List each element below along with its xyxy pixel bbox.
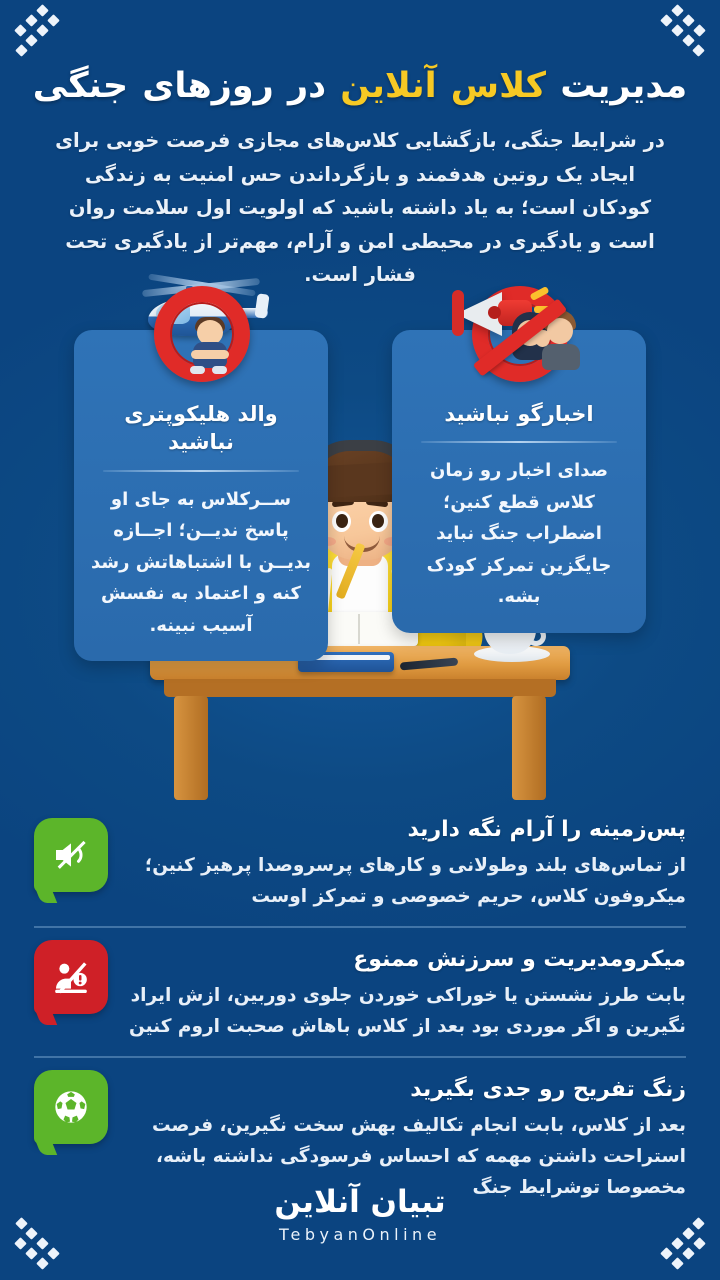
tip-body: بابت طرز نشستن یا خوراکی خوردن جلوی دورب… [126,980,686,1042]
desk-leg-left [174,696,208,800]
tip-title: پس‌زمینه را آرام نگه دارید [126,814,686,846]
man-shirt [542,344,580,370]
card-title: والد هلیکوپتری نباشید [90,400,312,457]
no-megaphone-whisper-icon [444,268,594,400]
card-title: اخبارگو نباشید [408,400,630,428]
tip-text: میکرومدیریت و سرزنش ممنوع بابت طرز نشستن… [126,944,686,1042]
megaphone-rim [452,290,464,336]
title-part-1: مدیریت [546,66,687,106]
megaphone-knob [488,306,501,319]
list-item: میکرومدیریت و سرزنش ممنوع بابت طرز نشستن… [34,926,686,1056]
illustration-stage: ❖ تبیان [0,258,720,806]
title-part-3: در روزهای جنگی [33,66,326,106]
card-divider [421,441,617,443]
sad-child-figure [188,320,232,376]
boy-pupil-right [372,514,384,528]
child-shoe-right [212,366,227,374]
tip-title: زنگ تفریح رو جدی بگیرید [126,1074,686,1106]
tip-card-no-newscaster: اخبارگو نباشید صدای اخبار رو زمان کلاس ق… [392,330,646,633]
corner-ornament-top-left [16,16,60,60]
soccer-ball-bubble-icon [34,1070,108,1144]
child-shoe-left [190,366,205,374]
tip-body: از تماس‌های بلند وطولانی و کارهای پرسروص… [126,850,686,912]
child-arms [191,350,229,359]
tip-text: پس‌زمینه را آرام نگه دارید از تماس‌های ب… [126,814,686,912]
tip-card-no-helicopter-parent: والد هلیکوپتری نباشید ســرکلاس به جای او… [74,330,328,661]
wooden-desk [150,646,570,806]
infographic-poster: مدیریت کلاس آنلاین در روزهای جنگی در شرا… [0,0,720,1280]
tip-title: میکرومدیریت و سرزنش ممنوع [126,944,686,976]
list-item: پس‌زمینه را آرام نگه دارید از تماس‌های ب… [34,806,686,926]
brand-name-fa: تبیان آنلاین [0,1184,720,1220]
title-highlight: کلاس آنلاین [326,66,546,106]
card-divider [103,470,299,472]
card-body: صدای اخبار رو زمان کلاس قطع کنین؛ اضطراب… [408,455,630,613]
muted-speaker-bubble-icon [34,818,108,892]
footer-branding: تبیان آنلاین TebyanOnline [0,1184,720,1244]
page-title: مدیریت کلاس آنلاین در روزهای جنگی [26,62,694,110]
desk-leg-right [512,696,546,800]
no-helicopter-icon [126,268,276,400]
corner-ornament-top-right [660,16,704,60]
boy-pupil-left [336,514,348,528]
card-body: ســرکلاس به جای او پاسخ ندیــن؛ اجــازه … [90,484,312,642]
desk-apron [164,679,556,697]
tips-list: پس‌زمینه را آرام نگه دارید از تماس‌های ب… [0,806,720,1217]
brand-name-en: TebyanOnline [0,1225,720,1244]
no-scolding-bubble-icon [34,940,108,1014]
